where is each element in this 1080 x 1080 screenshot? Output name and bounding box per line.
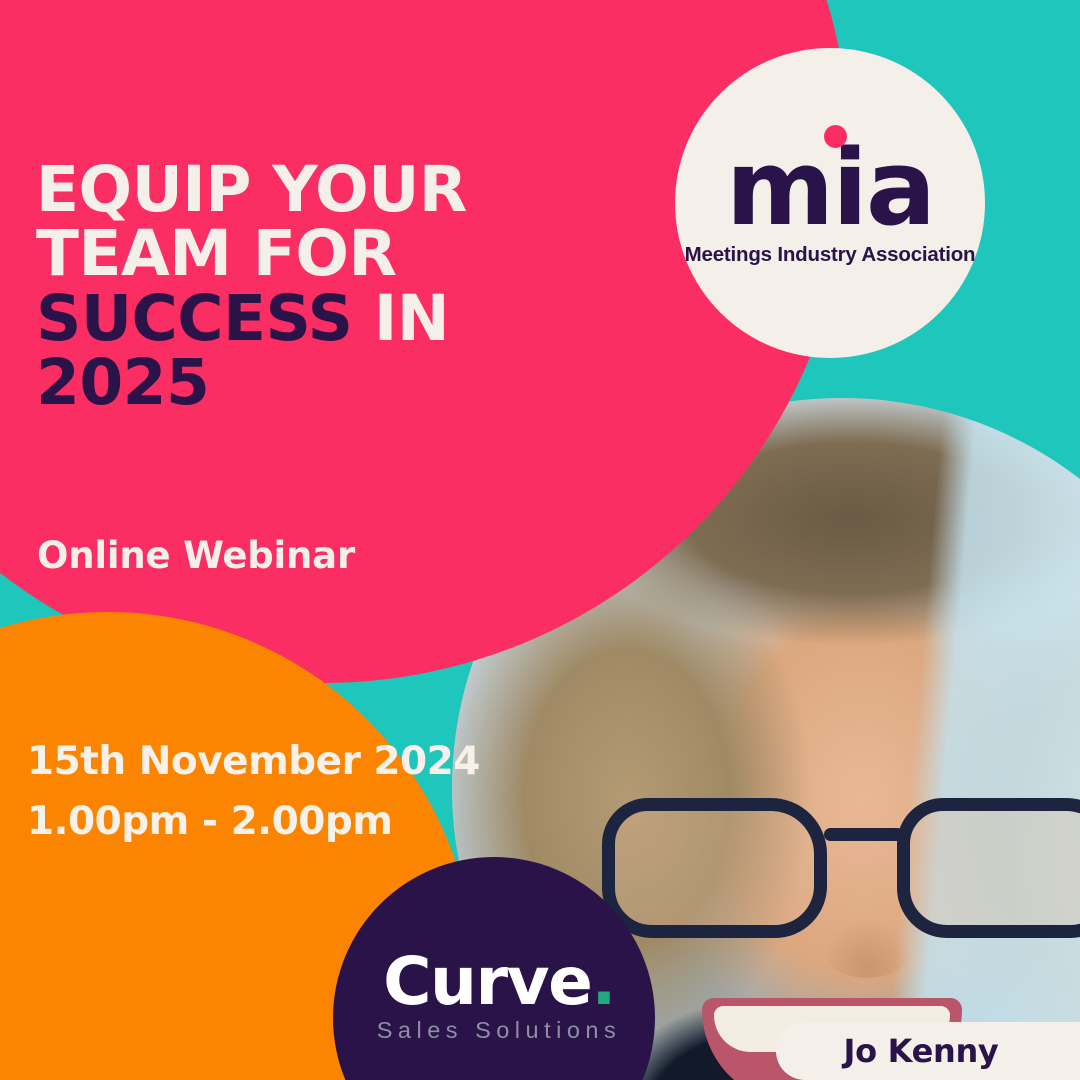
curve-dot-icon: . <box>591 943 615 1020</box>
webinar-promo-poster: mia Meetings Industry Association Curve.… <box>0 0 1080 1080</box>
event-time: 1.00pm - 2.00pm <box>27 802 480 843</box>
headline-accent-success: SUCCESS <box>36 282 352 355</box>
event-date: 15th November 2024 <box>27 742 480 783</box>
headline-line-3-rest: IN <box>374 282 449 355</box>
glasses-left-lens <box>602 798 827 938</box>
speaker-name: Jo Kenny <box>844 1032 999 1070</box>
headline-line-3: SUCCESS IN <box>36 287 506 351</box>
mia-logo: mia Meetings Industry Association <box>675 48 985 358</box>
headline: EQUIP YOUR TEAM FOR SUCCESS IN 2025 <box>36 158 506 415</box>
subtitle: Online Webinar <box>37 534 355 577</box>
curve-wordmark-text: Curve <box>383 943 591 1020</box>
headline-line-1: EQUIP YOUR <box>36 158 506 222</box>
curve-wordmark: Curve. <box>373 949 625 1015</box>
pink-dot-icon <box>824 125 847 148</box>
mia-wordmark: mia <box>726 139 934 238</box>
headline-line-2: TEAM FOR <box>36 222 506 286</box>
event-datetime: 15th November 2024 1.00pm - 2.00pm <box>27 742 480 843</box>
curve-tagline: Sales Solutions <box>373 1017 625 1044</box>
glasses-bridge <box>824 828 904 841</box>
speaker-name-badge: Jo Kenny <box>776 1022 1080 1080</box>
curve-logo-inner: Curve. Sales Solutions <box>373 949 625 1044</box>
headline-accent-year: 2025 <box>36 351 506 415</box>
eyeglasses-icon <box>602 798 1080 943</box>
glasses-right-lens <box>897 798 1080 938</box>
